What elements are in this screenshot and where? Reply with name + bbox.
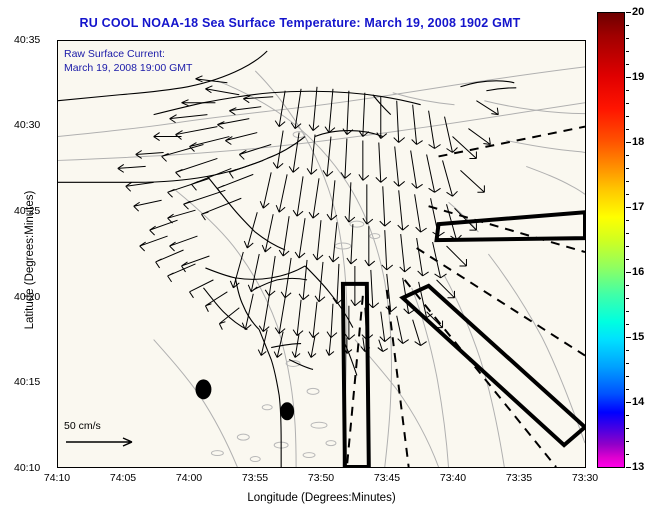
map-plot-area: Raw Surface Current: March 19, 2008 19:0… — [57, 40, 586, 468]
cb-tick-13: 13 — [632, 461, 644, 473]
scale-bar: 50 cm/s — [64, 420, 156, 453]
x-tick-6: 73:40 — [440, 472, 466, 484]
y-axis-label: Latitude (Degrees:Minutes) — [24, 160, 36, 360]
map-graphics — [58, 41, 585, 467]
x-axis-label: Longitude (Degrees:Minutes) — [57, 492, 586, 504]
current-vectors — [118, 76, 499, 358]
annotation-line-2: March 19, 2008 19:00 GMT — [64, 61, 192, 75]
y-tick-5: 40:10 — [14, 462, 40, 474]
scale-bar-label: 50 cm/s — [64, 420, 156, 432]
x-tick-1: 74:05 — [110, 472, 136, 484]
cb-tick-15: 15 — [632, 331, 644, 343]
scale-bar-arrow-icon — [64, 436, 142, 448]
colorbar — [597, 12, 625, 468]
colorbar-gradient — [598, 13, 624, 467]
x-tick-8: 73:30 — [572, 472, 598, 484]
annotation-line-1: Raw Surface Current: — [64, 47, 192, 61]
cb-tick-18: 18 — [632, 136, 644, 148]
cb-tick-16: 16 — [632, 266, 644, 278]
x-tick-7: 73:35 — [506, 472, 532, 484]
cb-tick-17: 17 — [632, 201, 644, 213]
cb-tick-19: 19 — [632, 71, 644, 83]
x-tick-4: 73:50 — [308, 472, 334, 484]
dashed-transects — [347, 127, 585, 467]
site-marker-1 — [195, 379, 211, 399]
y-tick-0: 40:35 — [14, 34, 40, 46]
x-tick-2: 74:00 — [176, 472, 202, 484]
figure-title: RU COOL NOAA-18 Sea Surface Temperature:… — [0, 16, 600, 30]
cb-tick-14: 14 — [632, 396, 644, 408]
x-tick-5: 73:45 — [374, 472, 400, 484]
x-tick-0: 74:10 — [44, 472, 70, 484]
bathymetry-contours — [58, 67, 585, 467]
cb-tick-20: 20 — [632, 6, 644, 18]
y-tick-1: 40:30 — [14, 119, 40, 131]
site-marker-2 — [280, 402, 294, 420]
annotation-block: Raw Surface Current: March 19, 2008 19:0… — [64, 47, 192, 75]
x-tick-3: 73:55 — [242, 472, 268, 484]
figure-canvas: RU COOL NOAA-18 Sea Surface Temperature:… — [0, 0, 651, 518]
y-tick-4: 40:15 — [14, 376, 40, 388]
